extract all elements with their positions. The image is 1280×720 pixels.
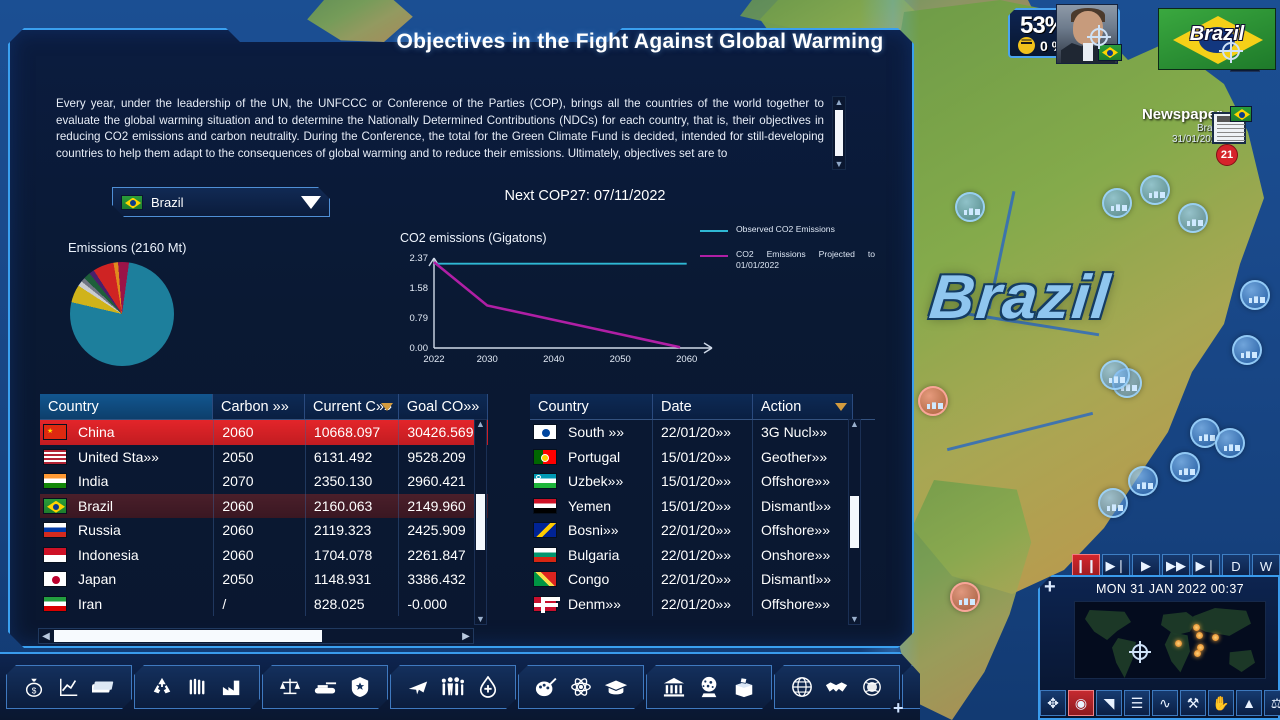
column-header-label: Date [661, 399, 692, 415]
column-header-goalco[interactable]: Goal CO»» [399, 394, 488, 419]
map-city-marker[interactable] [1178, 203, 1208, 233]
scroll-down-icon[interactable]: ▼ [835, 160, 844, 168]
ballot-box-icon[interactable] [731, 674, 757, 700]
speed-button-fast-forward[interactable]: ▶▶ [1162, 554, 1190, 578]
line-chart-legend: Observed CO2 Emissions CO2 Emissions Pro… [700, 224, 875, 285]
country-flag-cell [40, 494, 70, 519]
x-tick-label: 2050 [610, 354, 631, 365]
speed-button-next-step[interactable]: ▶❘ [1192, 554, 1220, 578]
cell-date: 22/01/20»» [653, 592, 753, 617]
minimap-climate-tool[interactable]: ◉ [1068, 690, 1094, 716]
cell-current-co2: 1148.931 [306, 567, 399, 592]
scroll-down-icon[interactable]: ▼ [850, 615, 859, 624]
table-row[interactable]: Indonesia20601704.0782261.847 [40, 543, 488, 568]
legend-label-projected: CO2 Emissions Projected to 01/01/2022 [736, 249, 875, 271]
country-flag-cell [40, 445, 70, 470]
cell-date: 22/01/20»» [653, 420, 753, 445]
globe-grid-icon[interactable] [789, 674, 815, 700]
neutral-face-icon [1018, 37, 1035, 54]
cell-date: 15/01/20»» [653, 445, 753, 470]
atom-icon[interactable] [568, 674, 594, 700]
table-body[interactable]: South »»22/01/20»»3G Nucl»»Portugal15/01… [530, 419, 875, 616]
map-city-marker[interactable] [1102, 188, 1132, 218]
toolbar-group-economy[interactable]: $ [6, 665, 132, 709]
minimap-continent [1085, 610, 1131, 640]
id-flag-icon [43, 547, 67, 563]
country-flag-cell [530, 543, 560, 568]
game-clock: MON 31 JAN 2022 00:37 [1070, 582, 1270, 596]
minimap-hotspot [1212, 634, 1219, 641]
cn-flag-icon: ★ [43, 424, 67, 440]
country-flag-cell [530, 592, 560, 617]
cell-action: Geother»» [753, 445, 853, 470]
tank-icon[interactable] [312, 674, 338, 700]
table-header-row[interactable]: CountryCarbon »»Current C»»Goal CO»» [40, 394, 488, 419]
sort-descending-icon[interactable] [835, 403, 847, 411]
minimap-continent [1163, 632, 1193, 674]
cell-date: 15/01/20»» [653, 469, 753, 494]
svg-text:$: $ [32, 686, 37, 695]
map-city-marker-alert[interactable] [950, 582, 980, 612]
country-selector-value: Brazil [151, 195, 184, 210]
police-badge-icon[interactable] [347, 674, 373, 700]
y-tick-label: 2.37 [410, 253, 429, 264]
column-header-label: Goal CO»» [407, 399, 480, 415]
health-drop-icon[interactable] [475, 674, 501, 700]
toolbar-expand-plus[interactable]: + [893, 698, 904, 719]
airplane-icon[interactable] [405, 674, 431, 700]
table-header-row[interactable]: CountryDateAction [530, 394, 875, 419]
cell-date: 15/01/20»» [653, 494, 753, 519]
minimap-hotspot [1193, 624, 1200, 631]
scrollbar-thumb[interactable] [850, 496, 859, 548]
map-city-marker[interactable] [1140, 175, 1170, 205]
bg-flag-icon [533, 547, 557, 563]
chevron-down-icon[interactable] [301, 196, 321, 209]
table-row[interactable]: United Sta»»20506131.4929528.209 [40, 445, 488, 470]
minimap-continent [1227, 650, 1255, 672]
description-block: Every year, under the leadership of the … [56, 96, 846, 170]
minimap-terrain-tool[interactable]: ▲ [1236, 690, 1262, 716]
main-toolbar[interactable]: $ [0, 652, 920, 720]
column-header-label: Country [538, 399, 589, 415]
factory-icon[interactable] [219, 674, 245, 700]
cell-country: Bulgaria [560, 543, 653, 568]
description-scrollbar[interactable]: ▲ ▼ [832, 96, 846, 170]
table-row[interactable]: Denm»»22/01/20»»Offshore»» [530, 592, 875, 617]
us-flag-icon [43, 449, 67, 465]
map-city-marker[interactable] [1170, 452, 1200, 482]
country-flag-cell [40, 518, 70, 543]
in-flag-icon [43, 473, 67, 489]
cell-action: Offshore»» [753, 518, 853, 543]
map-city-marker[interactable] [1232, 335, 1262, 365]
cell-country: Russia [70, 518, 214, 543]
y-tick-label: 0.79 [410, 313, 429, 324]
speed-button-day[interactable]: D [1222, 554, 1250, 578]
cell-action: Onshore»» [753, 543, 853, 568]
un-emblem-icon[interactable] [859, 674, 885, 700]
column-header-action[interactable]: Action [753, 394, 853, 419]
speed-button-play[interactable]: ▶ [1132, 554, 1160, 578]
country-actions-table[interactable]: CountryDateAction South »»22/01/20»»3G N… [530, 394, 875, 616]
br-flag-icon [43, 498, 67, 514]
cell-country: China [70, 420, 214, 445]
cell-current-co2: 1704.078 [306, 543, 399, 568]
map-city-marker[interactable] [1098, 488, 1128, 518]
portrait-shirt [1083, 43, 1093, 61]
country-flag-cell [530, 469, 560, 494]
cell-action: Offshore»» [753, 469, 853, 494]
column-header-label: Action [761, 399, 801, 415]
minimap-energy-tool[interactable]: ∿ [1152, 690, 1178, 716]
cell-carbon-neutrality-year: 2050 [214, 567, 306, 592]
cell-carbon-neutrality-year: 2060 [214, 494, 306, 519]
cell-country: India [70, 469, 214, 494]
brazil-flag-icon [1098, 44, 1122, 61]
table-row[interactable]: India20702350.1302960.421 [40, 469, 488, 494]
cell-country: United Sta»» [70, 445, 214, 470]
toolbar-group-science[interactable] [518, 665, 644, 709]
wheat-icon[interactable] [184, 674, 210, 700]
minimap-crosshair-icon[interactable] [1132, 644, 1148, 660]
left-table-scrollbar[interactable]: ▲ ▼ [474, 419, 487, 625]
toolbar-group-industry[interactable] [134, 665, 260, 709]
country-flag-cell [40, 469, 70, 494]
column-header-label: Country [48, 399, 99, 415]
cell-country: Yemen [560, 494, 653, 519]
cell-current-co2: 2350.130 [306, 469, 399, 494]
description-text: Every year, under the leadership of the … [56, 96, 824, 170]
cell-country: Portugal [560, 445, 653, 470]
newspaper-unread-badge[interactable]: 21 [1216, 144, 1238, 166]
country-name-label: Brazil [1159, 23, 1275, 46]
legend-swatch-observed [700, 230, 728, 232]
column-header-label: Carbon »» [221, 399, 289, 415]
scroll-up-icon[interactable]: ▲ [835, 98, 844, 106]
globe-podium-icon[interactable] [696, 674, 722, 700]
country-flag-cell [530, 518, 560, 543]
legend-item: Observed CO2 Emissions [700, 224, 875, 235]
column-header-country[interactable]: Country [40, 394, 213, 419]
cell-country: Indonesia [70, 543, 214, 568]
country-flag-cell [530, 445, 560, 470]
recycle-icon[interactable] [149, 674, 175, 700]
dk-flag-icon [533, 596, 557, 612]
pie-chart-title: Emissions (2160 Mt) [68, 240, 186, 255]
handshake-icon[interactable] [824, 674, 850, 700]
jp-flag-icon [43, 571, 67, 587]
parliament-icon[interactable] [661, 674, 687, 700]
cell-current-co2: 828.025 [306, 592, 399, 617]
scroll-right-icon[interactable]: ▶ [459, 631, 473, 642]
cell-carbon-neutrality-year: / [214, 592, 306, 617]
next-cop-label: Next COP27: 07/11/2022 [420, 188, 750, 204]
cell-date: 22/01/20»» [653, 543, 753, 568]
map-city-marker[interactable] [1215, 428, 1245, 458]
line-chart-icon[interactable] [56, 674, 82, 700]
left-table-horizontal-scrollbar[interactable]: ◀ ▶ [38, 628, 474, 644]
column-header-date[interactable]: Date [653, 394, 753, 419]
minimap-hotspot [1194, 650, 1201, 657]
table-row[interactable]: Iran/828.025-0.000 [40, 592, 488, 617]
map-city-marker-alert[interactable] [918, 386, 948, 416]
table-row[interactable]: Russia20602119.3232425.909 [40, 518, 488, 543]
table-row[interactable]: Yemen15/01/20»»Dismantl»» [530, 494, 875, 519]
cell-country: Iran [70, 592, 214, 617]
toolbar-group-politics[interactable] [646, 665, 772, 709]
kr-flag-icon [533, 424, 557, 440]
cell-country: Japan [70, 567, 214, 592]
map-city-marker[interactable] [1240, 280, 1270, 310]
map-city-marker[interactable] [1128, 466, 1158, 496]
cell-date: 22/01/20»» [653, 567, 753, 592]
line-chart-svg: 0.000.791.582.3720222030204020502060 [400, 250, 720, 375]
country-flag-cell [40, 567, 70, 592]
cell-action: 3G Nucl»» [753, 420, 853, 445]
scroll-up-icon[interactable]: ▲ [850, 420, 859, 429]
table-row[interactable]: Japan20501148.9313386.432 [40, 567, 488, 592]
minimap-tool-bar[interactable]: ✥◉◥☰∿⚒✋▲⚖☀ [1040, 690, 1280, 716]
column-header-currentc[interactable]: Current C»» [305, 394, 399, 419]
minimap-trade-tool[interactable]: ✋ [1208, 690, 1234, 716]
legend-item: CO2 Emissions Projected to 01/01/2022 [700, 249, 875, 271]
speed-button-play-slow[interactable]: ▶❘ [1102, 554, 1130, 578]
cell-date: 22/01/20»» [653, 518, 753, 543]
cell-country: Uzbek»» [560, 469, 653, 494]
minimap-law-tool[interactable]: ⚖ [1264, 690, 1280, 716]
map-city-marker[interactable] [1100, 360, 1130, 390]
speed-control-bar[interactable]: ❙❙▶❘▶▶▶▶❘DWM [1072, 554, 1280, 578]
crosshair-icon[interactable] [1090, 28, 1108, 46]
scales-icon[interactable] [277, 674, 303, 700]
cell-carbon-neutrality-year: 2060 [214, 543, 306, 568]
minimap-industry-tool[interactable]: ◥ [1096, 690, 1122, 716]
minimap-expand-plus[interactable]: + [1044, 576, 1056, 599]
minimap-resources-tool[interactable]: ⚒ [1180, 690, 1206, 716]
scroll-left-icon[interactable]: ◀ [39, 631, 53, 642]
scrollbar-thumb[interactable] [54, 630, 322, 642]
column-header-country[interactable]: Country [530, 394, 653, 419]
cell-current-co2: 2119.323 [306, 518, 399, 543]
cell-action: Dismantl»» [753, 494, 853, 519]
sort-descending-icon[interactable] [381, 403, 393, 411]
toolbar-group-social[interactable] [390, 665, 516, 709]
brazil-flag-icon [121, 195, 143, 210]
uz-flag-icon [533, 473, 557, 489]
country-flag-cell [40, 592, 70, 617]
cell-action: Dismantl»» [753, 567, 853, 592]
country-flag-cell: ★ [40, 420, 70, 445]
scrollbar-thumb[interactable] [476, 494, 485, 550]
graduation-cap-icon[interactable] [603, 674, 629, 700]
cell-current-co2: 2160.063 [306, 494, 399, 519]
minimap-select-tool[interactable]: ✥ [1040, 690, 1066, 716]
x-axis-arrow [704, 348, 712, 353]
crosshair-icon[interactable] [1222, 42, 1240, 60]
table-row[interactable]: Uzbek»»15/01/20»»Offshore»» [530, 469, 875, 494]
y-tick-label: 0.00 [410, 343, 429, 354]
newspaper-widget[interactable]: Newspaper Brazil 31/01/2022 [1112, 106, 1222, 145]
scroll-down-icon[interactable]: ▼ [476, 615, 485, 624]
x-axis-arrow [704, 343, 712, 348]
ir-flag-icon [43, 596, 67, 612]
cell-country: Bosni»» [560, 518, 653, 543]
legend-swatch-projected [700, 255, 728, 257]
country-flag-cell [530, 567, 560, 592]
cell-country: Brazil [70, 494, 214, 519]
y-axis-arrow [429, 258, 434, 266]
x-tick-label: 2030 [477, 354, 498, 365]
newspaper-country: Brazil [1112, 123, 1222, 134]
scrollbar-track[interactable] [53, 630, 459, 642]
country-objectives-table[interactable]: CountryCarbon »»Current C»»Goal CO»» ★Ch… [40, 394, 488, 616]
scroll-up-icon[interactable]: ▲ [476, 420, 485, 429]
minimap-infrastructure-tool[interactable]: ☰ [1124, 690, 1150, 716]
speed-button-pause[interactable]: ❙❙ [1072, 554, 1100, 578]
cell-country: South »» [560, 420, 653, 445]
cell-carbon-neutrality-year: 2060 [214, 420, 306, 445]
cell-country: Denm»» [560, 592, 653, 617]
line-chart-title: CO2 emissions (Gigatons) [400, 231, 547, 245]
palette-brush-icon[interactable] [533, 674, 559, 700]
cell-carbon-neutrality-year: 2070 [214, 469, 306, 494]
legend-label-observed: Observed CO2 Emissions [736, 224, 835, 235]
right-table-scrollbar[interactable]: ▲ ▼ [848, 419, 861, 625]
x-tick-label: 2060 [676, 354, 697, 365]
cell-carbon-neutrality-year: 2060 [214, 518, 306, 543]
country-flag-banner[interactable]: Brazil [1158, 8, 1276, 70]
minimap-hotspot [1175, 640, 1182, 647]
newspaper-date: 31/01/2022 [1112, 134, 1222, 145]
country-selector-dropdown[interactable]: Brazil [112, 187, 330, 217]
table-row[interactable]: ★China206010668.09730426.569 [40, 420, 488, 445]
newspaper-title: Newspaper [1112, 106, 1222, 123]
co2-emissions-line-chart: 0.000.791.582.3720222030204020502060 [400, 250, 720, 375]
country-flag-cell [530, 494, 560, 519]
table-row[interactable]: Bulgaria22/01/20»»Onshore»» [530, 543, 875, 568]
emissions-pie-chart [70, 262, 174, 366]
country-flag-cell [40, 543, 70, 568]
y-tick-label: 1.58 [410, 283, 429, 294]
table-row[interactable]: Portugal15/01/20»»Geother»» [530, 445, 875, 470]
cell-carbon-neutrality-year: 2050 [214, 445, 306, 470]
series-projected [434, 262, 680, 347]
cg-flag-icon [533, 571, 557, 587]
table-row[interactable]: Congo22/01/20»»Dismantl»» [530, 567, 875, 592]
x-tick-label: 2040 [543, 354, 564, 365]
cell-country: Congo [560, 567, 653, 592]
column-header-carbon[interactable]: Carbon »» [213, 394, 305, 419]
table-row[interactable]: Bosni»»22/01/20»»Offshore»» [530, 518, 875, 543]
speed-button-week[interactable]: W [1252, 554, 1280, 578]
map-country-label: Brazil [926, 262, 1114, 333]
pt-flag-icon [533, 449, 557, 465]
x-tick-label: 2022 [423, 354, 444, 365]
map-city-marker[interactable] [955, 192, 985, 222]
toolbar-group-diplomacy[interactable] [774, 665, 900, 709]
brazil-flag-icon [1230, 106, 1252, 122]
table-body[interactable]: ★China206010668.09730426.569United Sta»»… [40, 419, 488, 616]
banknotes-icon[interactable] [91, 674, 117, 700]
ru-flag-icon [43, 522, 67, 538]
cell-action: Offshore»» [753, 592, 853, 617]
newspaper-lines [1217, 124, 1245, 142]
world-minimap[interactable] [1074, 601, 1266, 679]
minimap-hotspot [1196, 632, 1203, 639]
cell-current-co2: 6131.492 [306, 445, 399, 470]
table-row[interactable]: Brazil20602160.0632149.960 [40, 494, 488, 519]
money-bag-icon[interactable]: $ [21, 674, 47, 700]
family-icon[interactable] [440, 674, 466, 700]
country-flag-cell [530, 420, 560, 445]
ye-flag-icon [533, 498, 557, 514]
cell-current-co2: 10668.097 [306, 420, 399, 445]
toolbar-group-military[interactable] [262, 665, 388, 709]
table-row[interactable]: South »»22/01/20»»3G Nucl»» [530, 420, 875, 445]
ba-flag-icon [533, 522, 557, 538]
scrollbar-thumb[interactable] [835, 110, 843, 156]
